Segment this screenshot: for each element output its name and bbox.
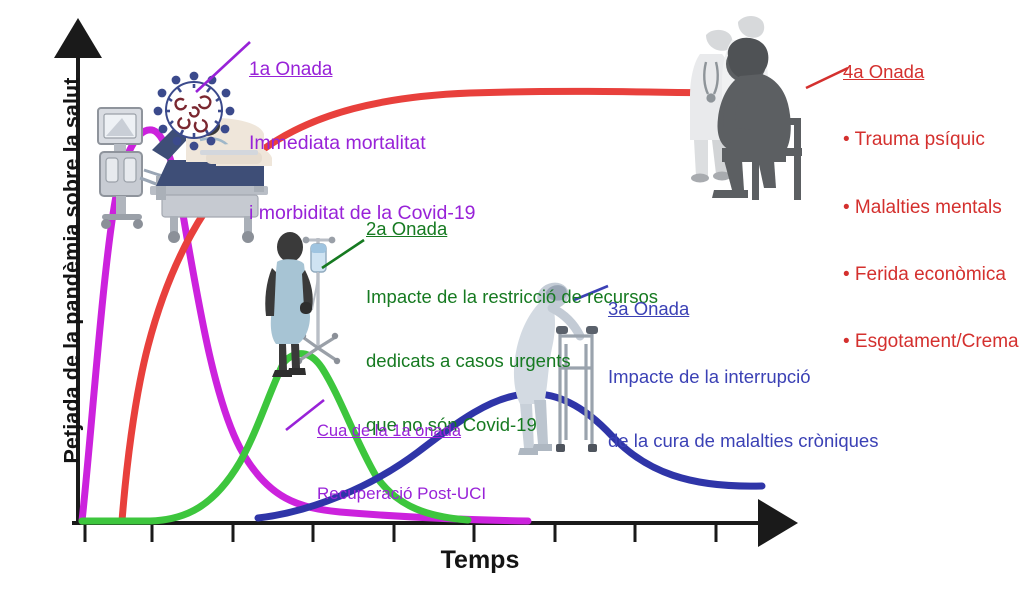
- leader-line-wave-4: [806, 68, 848, 88]
- wave-1-line-1: Immediata mortalitat: [249, 132, 476, 155]
- wave-4-bullet-2: • Malalties mentals: [843, 197, 1019, 219]
- annotation-wave-3: 3a Onada Impacte de la interrupció de la…: [608, 256, 878, 494]
- wave-4-bullet-4: • Esgotament/Crema: [843, 331, 1019, 353]
- wave-4-bullet-1: • Trauma psíquic: [843, 129, 1019, 151]
- wave-2-title: 2a Onada: [366, 218, 658, 240]
- tail-1-line-1: Recuperació Post-UCI: [317, 484, 486, 504]
- wave-3-line-1: Impacte de la interrupció: [608, 366, 878, 388]
- wave-3-title: 3a Onada: [608, 298, 878, 320]
- wave-4-title: 4a Onada: [843, 61, 1019, 83]
- wave-1-title: 1a Onada: [249, 59, 476, 81]
- wave-4-bullet-3: • Ferida econòmica: [843, 264, 1019, 286]
- y-axis-label: Petjada de la pandèmia sobre la salut: [60, 61, 85, 481]
- illustration-healthcare-burnout: [690, 16, 848, 200]
- annotation-tail-wave-1: Cua de la 1a onada Recuperació Post-UCI: [317, 382, 486, 544]
- illustration-icu-patient-ventilator: [98, 42, 272, 243]
- infographic-canvas: 1a Onada Immediata mortalitat i morbidit…: [0, 0, 1024, 592]
- x-axis-label: Temps: [390, 546, 570, 575]
- leader-line-wave-1: [196, 42, 250, 92]
- tail-1-title: Cua de la 1a onada: [317, 422, 486, 441]
- annotation-wave-4: 4a Onada • Trauma psíquic • Malalties me…: [843, 16, 1019, 398]
- wave-3-line-2: de la cura de malalties cròniques: [608, 430, 878, 452]
